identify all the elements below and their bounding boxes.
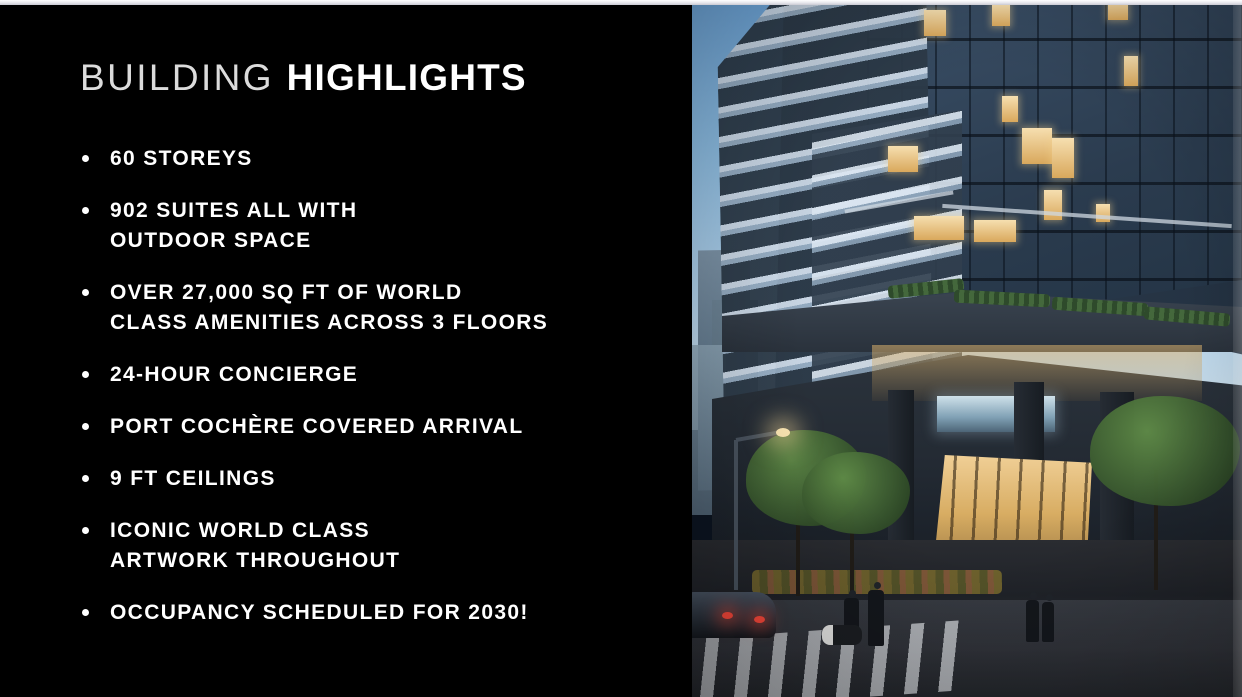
bullet-icon bbox=[82, 155, 89, 162]
list-item: 902 SUITES ALL WITH OUTDOOR SPACE bbox=[78, 196, 638, 256]
bullet-icon bbox=[82, 527, 89, 534]
lit-window bbox=[974, 220, 1016, 242]
bullet-icon bbox=[82, 289, 89, 296]
list-item-line: 902 SUITES ALL WITH bbox=[110, 196, 638, 226]
lit-window bbox=[914, 216, 964, 240]
list-item: OCCUPANCY SCHEDULED FOR 2030! bbox=[78, 598, 638, 628]
pedestrian bbox=[1026, 600, 1039, 642]
rendering-layers bbox=[692, 0, 1242, 697]
building-highlights-list: 60 STOREYS 902 SUITES ALL WITH OUTDOOR S… bbox=[78, 144, 638, 628]
list-item-line: PORT COCHÈRE COVERED ARRIVAL bbox=[110, 412, 638, 442]
list-item-line: OVER 27,000 SQ FT OF WORLD bbox=[110, 278, 638, 308]
pedestrian bbox=[868, 590, 884, 646]
list-item: OVER 27,000 SQ FT OF WORLD CLASS AMENITI… bbox=[78, 278, 638, 338]
list-item: PORT COCHÈRE COVERED ARRIVAL bbox=[78, 412, 638, 442]
lit-window bbox=[1022, 128, 1052, 164]
bullet-icon bbox=[82, 609, 89, 616]
pedestrian-head bbox=[849, 590, 856, 597]
page-title-bold: HIGHLIGHTS bbox=[287, 57, 527, 98]
page-title-light: BUILDING bbox=[80, 57, 287, 98]
list-item: 60 STOREYS bbox=[78, 144, 638, 174]
page-title: BUILDING HIGHLIGHTS bbox=[80, 56, 527, 100]
car-tail-light bbox=[722, 612, 733, 619]
list-item-line: 9 FT CEILINGS bbox=[110, 464, 638, 494]
list-item: 9 FT CEILINGS bbox=[78, 464, 638, 494]
list-item-line: 60 STOREYS bbox=[110, 144, 638, 174]
street-lamp-light bbox=[776, 428, 790, 437]
pedestrian-head bbox=[1030, 592, 1037, 599]
dog bbox=[822, 625, 862, 645]
image-right-edge-strip bbox=[1233, 0, 1242, 697]
street-lamp-pole bbox=[734, 440, 738, 590]
street-tree bbox=[1090, 396, 1240, 506]
pedestrian bbox=[1042, 602, 1054, 642]
slide-top-edge-strip bbox=[0, 0, 1242, 5]
parked-car bbox=[692, 592, 776, 638]
list-item-line: OUTDOOR SPACE bbox=[110, 226, 638, 256]
list-item-line: OCCUPANCY SCHEDULED FOR 2030! bbox=[110, 598, 638, 628]
bullet-icon bbox=[82, 475, 89, 482]
left-content-panel: BUILDING HIGHLIGHTS 60 STOREYS 902 SUITE… bbox=[0, 0, 692, 697]
lit-window bbox=[1002, 96, 1018, 122]
list-item-line: 24-HOUR CONCIERGE bbox=[110, 360, 638, 390]
bullet-icon bbox=[82, 423, 89, 430]
lit-window bbox=[992, 4, 1010, 26]
pedestrian-head bbox=[874, 582, 881, 589]
list-item-line: ICONIC WORLD CLASS bbox=[110, 516, 638, 546]
pedestrian-head bbox=[1046, 594, 1053, 601]
list-item-line: ARTWORK THROUGHOUT bbox=[110, 546, 638, 576]
presentation-slide: BUILDING HIGHLIGHTS 60 STOREYS 902 SUITE… bbox=[0, 0, 1242, 697]
list-item-line: CLASS AMENITIES ACROSS 3 FLOORS bbox=[110, 308, 638, 338]
street-tree bbox=[802, 452, 910, 534]
lit-window bbox=[924, 10, 946, 36]
lit-window bbox=[888, 146, 918, 172]
list-item: 24-HOUR CONCIERGE bbox=[78, 360, 638, 390]
lit-window bbox=[1052, 138, 1074, 178]
bullet-icon bbox=[82, 207, 89, 214]
list-item: ICONIC WORLD CLASS ARTWORK THROUGHOUT bbox=[78, 516, 638, 576]
lit-window bbox=[1124, 56, 1138, 86]
building-rendering-image bbox=[692, 0, 1242, 697]
bullet-icon bbox=[82, 371, 89, 378]
car-tail-light bbox=[754, 616, 765, 623]
